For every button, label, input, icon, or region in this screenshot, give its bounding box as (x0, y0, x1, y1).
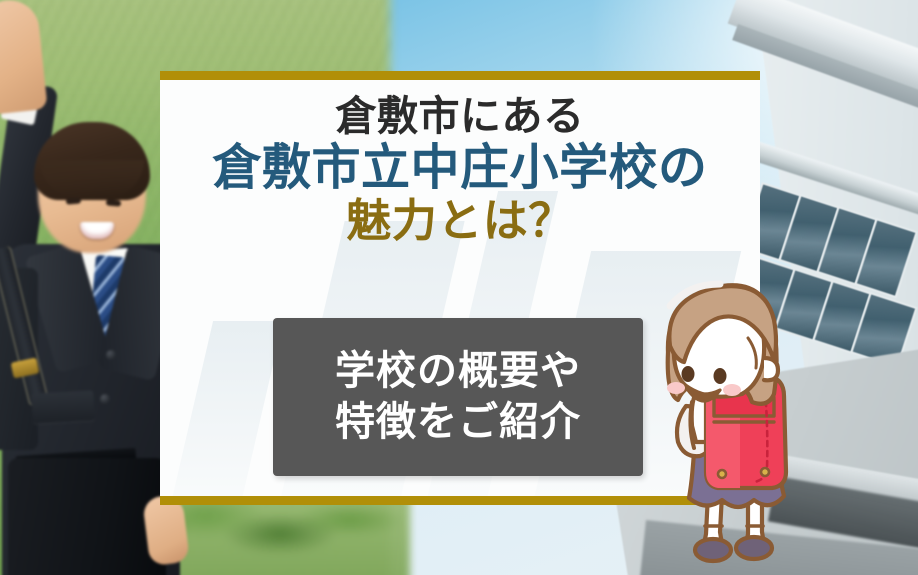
girl-eye-left (682, 366, 695, 382)
headline-line-1: 倉敷市にある (160, 96, 760, 138)
headline-line-3: 魅力とは？ (160, 198, 760, 244)
girl-shoes (695, 537, 772, 561)
school-info-banner: 倉敷市にある 倉敷市立中庄小学校の 魅力とは？ 学校の概要や 特徴をご紹介 (0, 0, 918, 575)
boy-jacket-button (100, 394, 110, 404)
card-top-rule (160, 71, 760, 80)
subtitle-line-2: 特徴をご紹介 (335, 397, 581, 448)
headline-line-2: 倉敷市立中庄小学校の (160, 144, 760, 194)
watermark-shape (167, 321, 283, 505)
girl-eye-right (714, 368, 727, 384)
boy-trousers (8, 458, 166, 575)
boy-jacket-button (106, 350, 116, 360)
girl-cheek-left (667, 382, 685, 394)
schoolgirl-mascot-illustration (648, 276, 838, 575)
headline-group: 倉敷市にある 倉敷市立中庄小学校の 魅力とは？ (160, 96, 760, 244)
subtitle-line-1: 学校の概要や (335, 346, 581, 397)
subtitle-box: 学校の概要や 特徴をご紹介 (273, 318, 643, 476)
girl-ear (764, 358, 778, 380)
boy-jacket-pocket (31, 390, 94, 423)
girl-cheek-right (723, 384, 741, 396)
boy-eye-right (106, 199, 121, 206)
boy-waving-hand (0, 0, 48, 115)
